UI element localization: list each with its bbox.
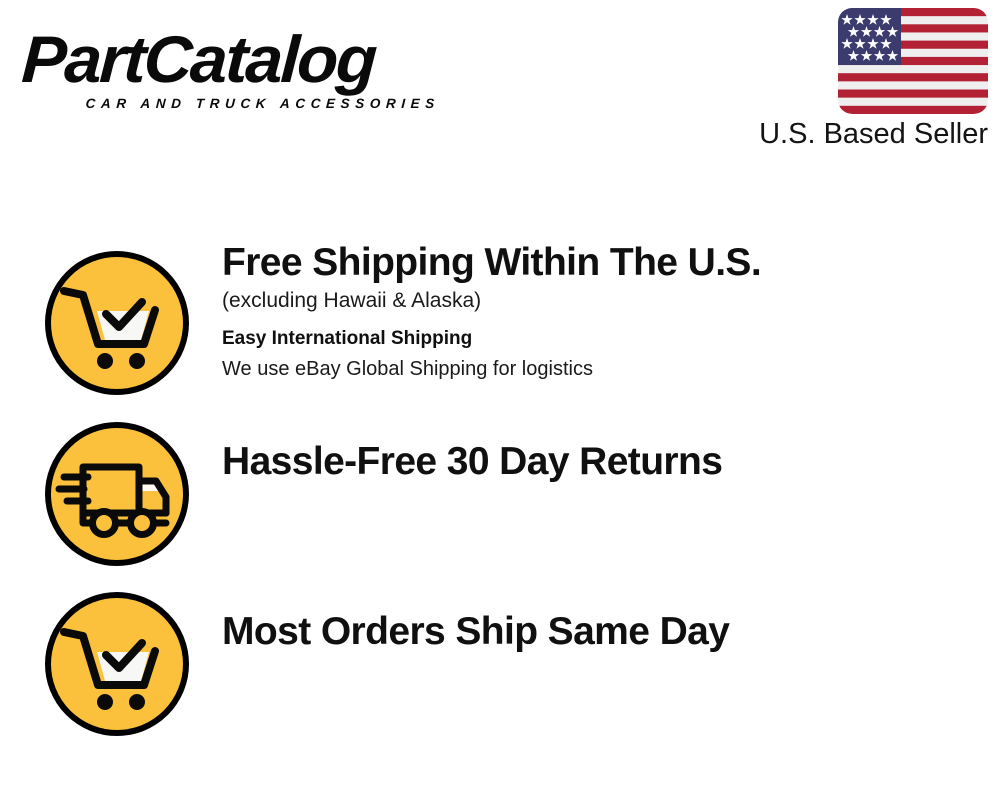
- feature-text-block: Free Shipping Within The U.S. (excluding…: [222, 240, 982, 384]
- brand-wordmark: PartCatalog: [20, 22, 377, 96]
- feature-subtitle: (excluding Hawaii & Alaska): [222, 286, 982, 316]
- header-bar: PartCatalog CAR AND TRUCK ACCESSORIES: [0, 0, 1000, 170]
- feature-title: Most Orders Ship Same Day: [222, 609, 982, 655]
- feature-sub-strong: Easy International Shipping: [222, 324, 982, 354]
- us-flag-icon: [838, 8, 988, 114]
- feature-row: Free Shipping Within The U.S. (excluding…: [0, 240, 1000, 410]
- brand-logo[interactable]: PartCatalog CAR AND TRUCK ACCESSORIES: [24, 22, 494, 114]
- feature-row: Hassle-Free 30 Day Returns: [0, 411, 1000, 581]
- feature-text-block: Most Orders Ship Same Day: [222, 609, 982, 655]
- shopping-cart-check-icon: [42, 589, 192, 739]
- brand-tagline: CAR AND TRUCK ACCESSORIES: [85, 96, 440, 111]
- feature-title: Free Shipping Within The U.S.: [222, 240, 982, 286]
- feature-title: Hassle-Free 30 Day Returns: [222, 439, 982, 485]
- us-based-seller-label: U.S. Based Seller: [759, 118, 988, 151]
- feature-row: Most Orders Ship Same Day: [0, 581, 1000, 751]
- delivery-truck-icon: [42, 419, 192, 569]
- feature-sub-note: We use eBay Global Shipping for logistic…: [222, 354, 982, 384]
- shopping-cart-check-icon: [42, 248, 192, 398]
- feature-text-block: Hassle-Free 30 Day Returns: [222, 439, 982, 485]
